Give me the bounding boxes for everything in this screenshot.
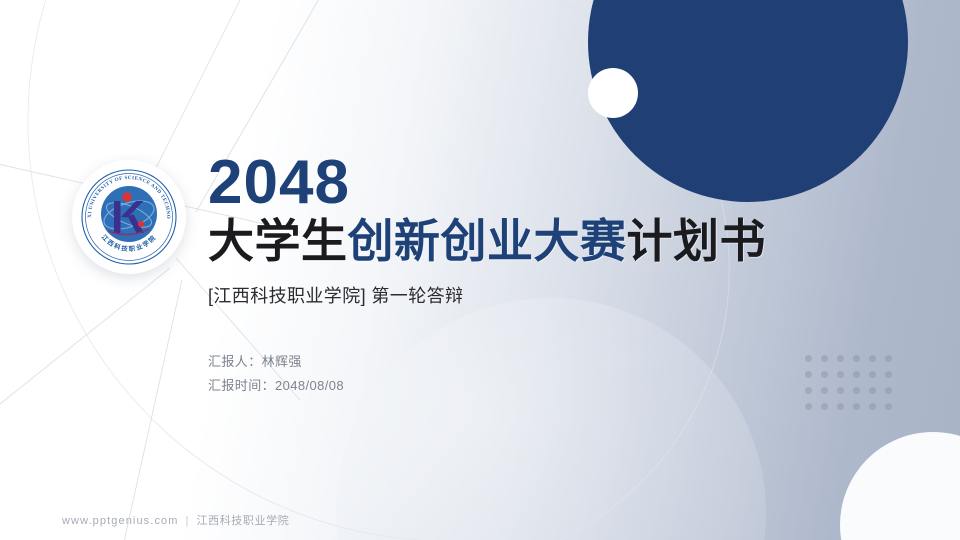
presenter-name-line: 汇报人：林辉强 — [208, 350, 848, 374]
title-segment-3: 计划书 — [627, 215, 767, 267]
title-segment-1: 大学生 — [208, 215, 348, 267]
footer-organization: 江西科技职业学院 — [197, 515, 290, 527]
footer-website: www.pptgenius.com — [62, 515, 179, 527]
presenter-date-line: 汇报时间：2048/08/08 — [208, 374, 848, 398]
title-segment-2: 创新创业大赛 — [348, 215, 627, 267]
subtitle: [江西科技职业学院] 第一轮答辩 — [208, 282, 848, 308]
decorative-white-circle — [840, 432, 960, 540]
presenter-info: 汇报人：林辉强 汇报时间：2048/08/08 — [208, 350, 848, 398]
footer: www.pptgenius.com|江西科技职业学院 — [62, 512, 289, 528]
page-title: 大学生创新创业大赛计划书 — [208, 216, 848, 268]
title-text-block: 2048 大学生创新创业大赛计划书 [江西科技职业学院] 第一轮答辩 汇报人：林… — [208, 152, 848, 398]
footer-separator: | — [186, 515, 190, 527]
presentation-slide: JIANGXI UNIVERSITY OF SCIENCE AND TECHNO… — [0, 0, 960, 540]
decorative-white-dot — [588, 68, 638, 118]
year-heading: 2048 — [208, 152, 848, 214]
university-crest-icon: JIANGXI UNIVERSITY OF SCIENCE AND TECHNO… — [72, 160, 186, 274]
